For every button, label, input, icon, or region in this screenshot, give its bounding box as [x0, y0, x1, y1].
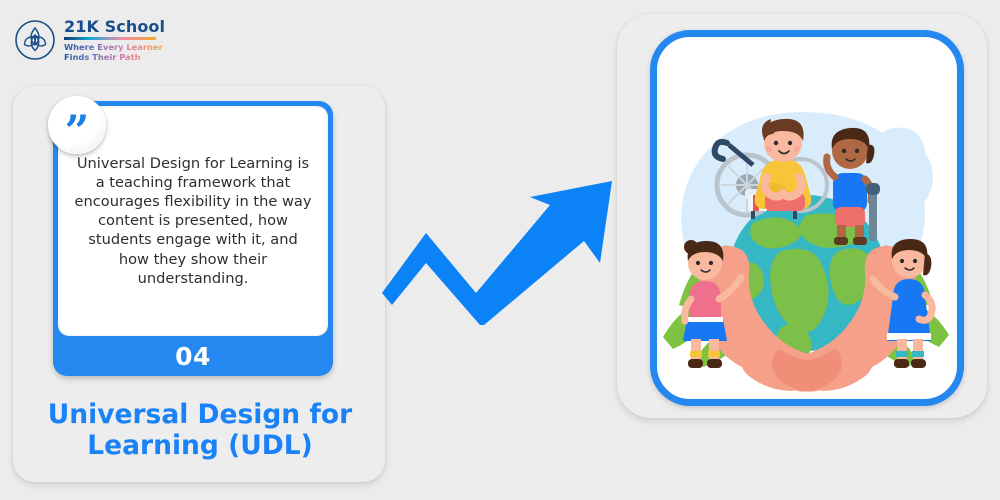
brand-tagline: Where Every Learner Finds Their Path: [64, 42, 165, 63]
brand-gradient-rule: [64, 37, 156, 40]
quotation-mark-icon: ”: [48, 96, 106, 154]
lotus-circle-logo-icon: [14, 19, 56, 61]
page-title-line1: Universal Design for: [48, 399, 352, 430]
page-title: Universal Design for Learning (UDL): [26, 400, 374, 461]
brand-tagline-line2: Finds Their Path: [64, 52, 141, 62]
brand-name: 21K School: [64, 19, 165, 36]
quote-text: Universal Design for Learning is a teach…: [72, 154, 314, 288]
brand-logo-text: 21K School Where Every Learner Finds The…: [64, 17, 165, 62]
quotation-mark-glyph: ”: [65, 111, 90, 154]
illustration-artwork: [657, 37, 957, 399]
page-title-line2: Learning (UDL): [87, 430, 312, 461]
brand-tagline-line1: Where Every Learner: [64, 42, 163, 52]
brand-logo: 21K School Where Every Learner Finds The…: [14, 14, 194, 66]
card-number-badge: 04: [53, 336, 333, 376]
growth-arrow-up-right-icon: [380, 175, 630, 325]
hands-holding-earth-with-inclusive-children-illustration: [650, 30, 964, 406]
